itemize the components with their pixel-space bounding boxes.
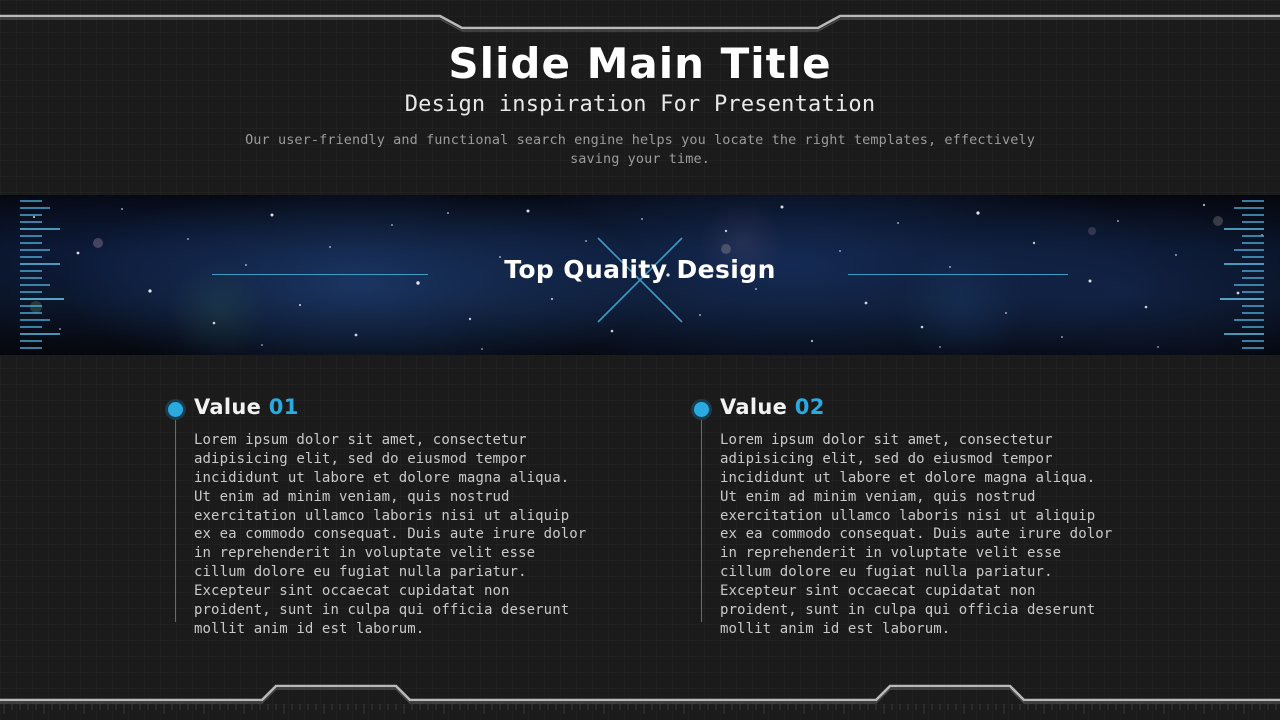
value-body-1: Lorem ipsum dolor sit amet, consectetur …: [194, 431, 589, 639]
bullet-dot-icon: [168, 402, 183, 417]
value-column-2: Value 02 Lorem ipsum dolor sit amet, con…: [694, 396, 1164, 639]
value-heading-2: Value 02: [720, 396, 1164, 418]
column-accent-line: [175, 410, 176, 622]
value-body-2: Lorem ipsum dolor sit amet, consectetur …: [720, 431, 1115, 639]
page-subtitle: Design inspiration For Presentation: [0, 92, 1280, 117]
space-banner: Top Quality Design: [0, 195, 1280, 355]
value-heading-1: Value 01: [194, 396, 638, 418]
header-description: Our user-friendly and functional search …: [240, 131, 1040, 167]
top-frame-line: [0, 0, 1280, 34]
value-number: 02: [795, 395, 825, 419]
header-block: Slide Main Title Design inspiration For …: [0, 40, 1280, 168]
value-column-1: Value 01 Lorem ipsum dolor sit amet, con…: [168, 396, 638, 639]
value-number: 01: [269, 395, 299, 419]
banner-title: Top Quality Design: [0, 255, 1280, 284]
tick-strip-icon: [0, 702, 1280, 720]
bullet-dot-icon: [694, 402, 709, 417]
value-label: Value: [720, 395, 787, 419]
slide-canvas: Slide Main Title Design inspiration For …: [0, 0, 1280, 720]
value-label: Value: [194, 395, 261, 419]
page-title: Slide Main Title: [0, 40, 1280, 88]
column-accent-line: [701, 410, 702, 622]
